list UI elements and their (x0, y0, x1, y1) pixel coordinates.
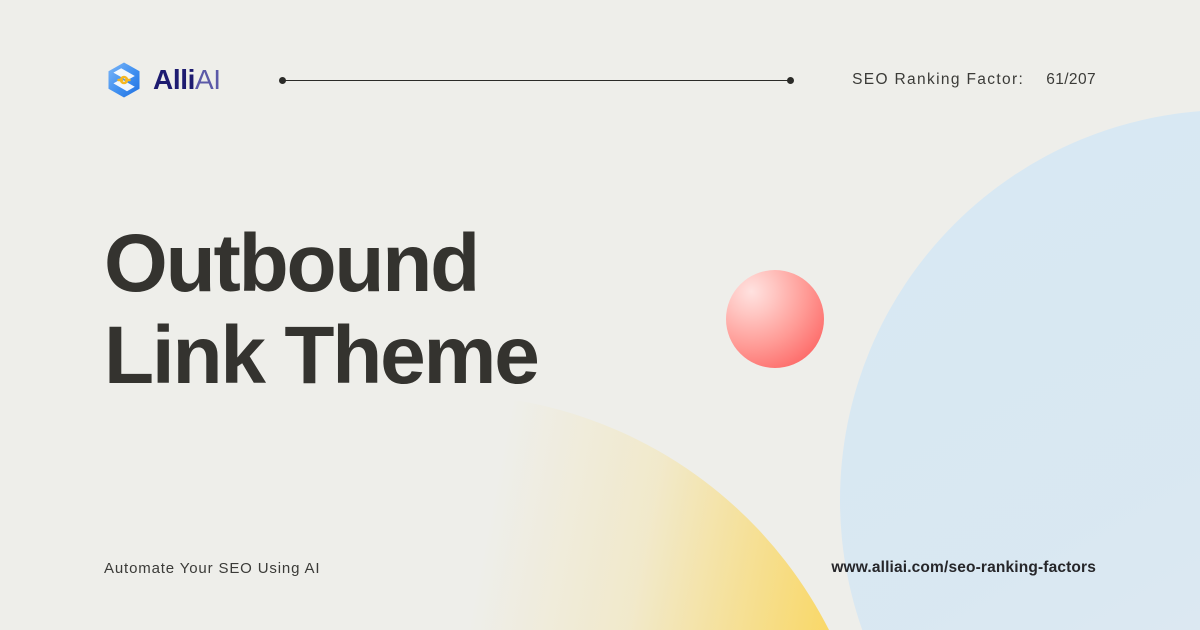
divider-right-dot-icon (787, 77, 794, 84)
brand-logo[interactable]: AlliAI (104, 60, 221, 100)
page-title-line-2: Link Theme (104, 310, 744, 402)
divider-rule (279, 76, 794, 85)
header: AlliAI SEO Ranking Factor: 61/207 (0, 0, 1200, 160)
slide-frame: AlliAI SEO Ranking Factor: 61/207 Outbou… (0, 0, 1200, 630)
brand-name-primary: Alli (153, 64, 195, 95)
page-title-line-1: Outbound (104, 218, 744, 310)
brand-name-secondary: AI (195, 64, 221, 95)
brand-name: AlliAI (153, 66, 221, 94)
seo-ranking-factor-value: 61/207 (1046, 71, 1096, 89)
page-title: Outbound Link Theme (104, 218, 744, 402)
header-divider (279, 76, 794, 85)
footer-tagline: Automate Your SEO Using AI (104, 560, 320, 577)
seo-ranking-factor-label: SEO Ranking Factor: (852, 71, 1024, 89)
alliai-hexagon-link-logo-icon (104, 60, 144, 100)
footer-url[interactable]: www.alliai.com/seo-ranking-factors (831, 559, 1096, 577)
footer: Automate Your SEO Using AI www.alliai.co… (0, 506, 1200, 630)
seo-ranking-factor: SEO Ranking Factor: 61/207 (852, 71, 1096, 89)
divider-line (283, 80, 790, 81)
